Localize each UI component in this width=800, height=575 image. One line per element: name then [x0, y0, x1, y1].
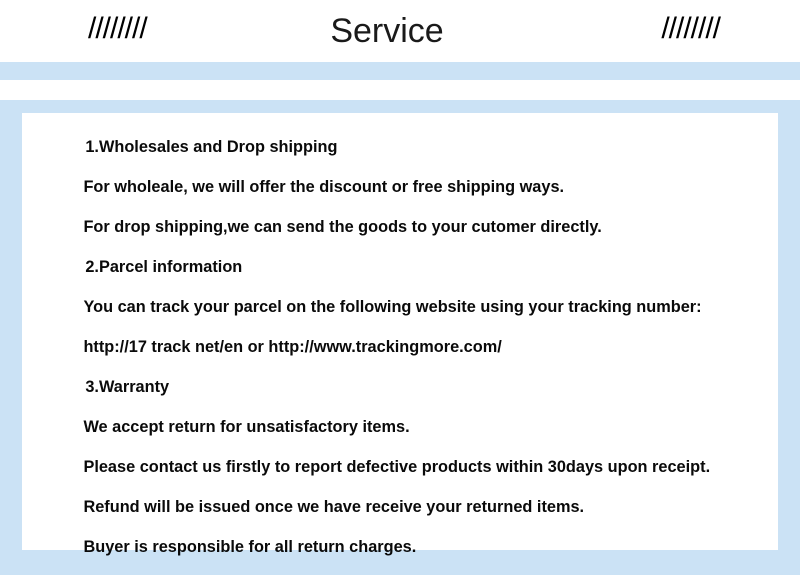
banner-header: //////// Service ////////	[0, 0, 800, 62]
slash-ornament-icon-right: ////////	[661, 14, 720, 44]
policy-text-line: For wholeale, we will offer the discount…	[22, 167, 748, 207]
service-info-banner: //////// Service //////// 1.Wholesales a…	[0, 0, 800, 575]
slash-ornament-icon-left: ////////	[88, 14, 147, 44]
content-card: 1.Wholesales and Drop shippingFor wholea…	[22, 113, 778, 550]
policy-text-line: For drop shipping,we can send the goods …	[22, 207, 748, 247]
content-panel: 1.Wholesales and Drop shippingFor wholea…	[0, 100, 800, 575]
policy-section-heading: 2.Parcel information	[22, 247, 748, 287]
policy-text-block: 1.Wholesales and Drop shippingFor wholea…	[22, 113, 778, 567]
policy-text-line: Please contact us firstly to report defe…	[22, 447, 748, 487]
policy-text-line: Refund will be issued once we have recei…	[22, 487, 748, 527]
header-divider-bar	[0, 62, 800, 80]
header-panel-gap	[0, 80, 800, 100]
page-title: Service	[330, 14, 443, 48]
policy-text-line: We accept return for unsatisfactory item…	[22, 407, 748, 447]
policy-text-line: Buyer is responsible for all return char…	[22, 527, 748, 567]
header-row: //////// Service ////////	[0, 0, 800, 62]
policy-section-heading: 1.Wholesales and Drop shipping	[22, 127, 748, 167]
policy-text-line: http://17 track net/en or http://www.tra…	[22, 327, 748, 367]
policy-section-heading: 3.Warranty	[22, 367, 748, 407]
policy-text-line: You can track your parcel on the followi…	[22, 287, 748, 327]
